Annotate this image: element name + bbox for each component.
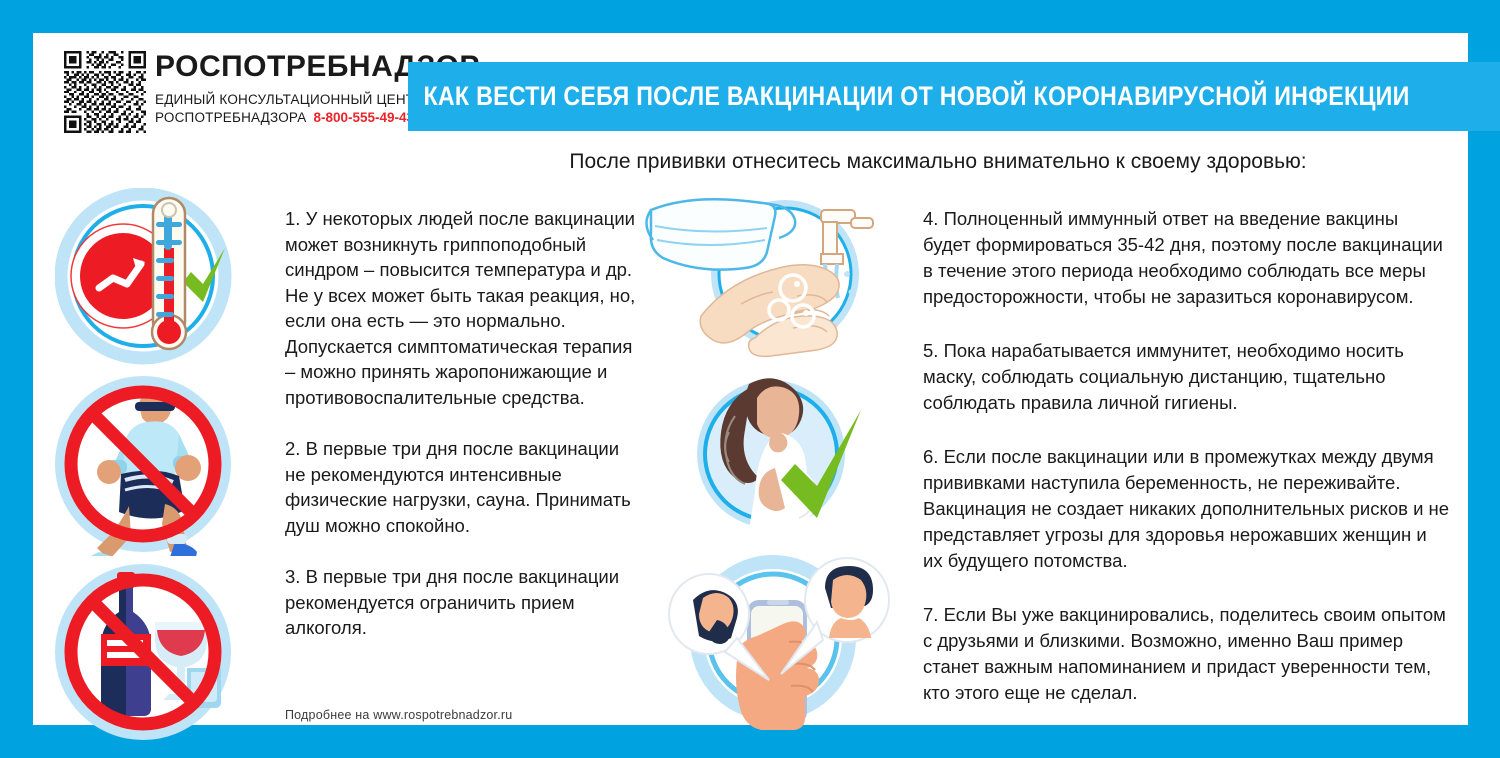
advice-item-4: 4. Полноценный иммунный ответ на введени… (923, 206, 1451, 310)
qr-code-icon (64, 51, 146, 133)
mask-handwashing-icon (645, 188, 903, 366)
advice-item-2: 2. В первые три дня после вакцинации не … (285, 436, 637, 538)
poster-content: 1. У некоторых людей после вакцинации мо… (33, 188, 1468, 725)
left-text-column: 1. У некоторых людей после вакцинации мо… (285, 206, 637, 641)
advice-item-6: 6. Если после вакцинации или в промежутк… (923, 444, 1451, 574)
footer-website-note: Подробнее на www.rospotrebnadzor.ru (285, 708, 512, 722)
thermometer-temperature-icon (55, 188, 245, 368)
advice-item-1: 1. У некоторых людей после вакцинации мо… (285, 206, 637, 410)
brand-subtitle-line2-text: РОСПОТРЕБНАДЗОРА (155, 110, 306, 125)
poster-root: РОСПОТРЕБНАДЗОР ЕДИНЫЙ КОНСУЛЬТАЦИОННЫЙ … (0, 0, 1500, 758)
no-running-exercise-icon (55, 376, 245, 556)
advice-item-7: 7. Если Вы уже вакцинировались, поделите… (923, 602, 1451, 706)
middle-icon-column (645, 188, 910, 734)
right-text-column: 4. Полноценный иммунный ответ на введени… (923, 206, 1451, 734)
advice-item-5: 5. Пока нарабатывается иммунитет, необхо… (923, 338, 1451, 416)
hotline-phone: 8-800-555-49-43 (313, 110, 414, 125)
poster-header: РОСПОТРЕБНАДЗОР ЕДИНЫЙ КОНСУЛЬТАЦИОННЫЙ … (33, 33, 1468, 143)
left-icon-column (55, 188, 275, 752)
page-subtitle: После прививки отнеситесь максимально вн… (408, 150, 1468, 174)
title-banner: КАК ВЕСТИ СЕБЯ ПОСЛЕ ВАКЦИНАЦИИ ОТ НОВОЙ… (408, 62, 1500, 131)
phone-sharing-icon (645, 552, 903, 730)
poster-sheet: РОСПОТРЕБНАДЗОР ЕДИНЫЙ КОНСУЛЬТАЦИОННЫЙ … (33, 33, 1468, 725)
pregnant-woman-icon (645, 370, 903, 548)
advice-item-3: 3. В первые три дня после вакцинации рек… (285, 564, 637, 641)
banner-title: КАК ВЕСТИ СЕБЯ ПОСЛЕ ВАКЦИНАЦИИ ОТ НОВОЙ… (408, 81, 1410, 112)
no-alcohol-icon (55, 564, 245, 744)
